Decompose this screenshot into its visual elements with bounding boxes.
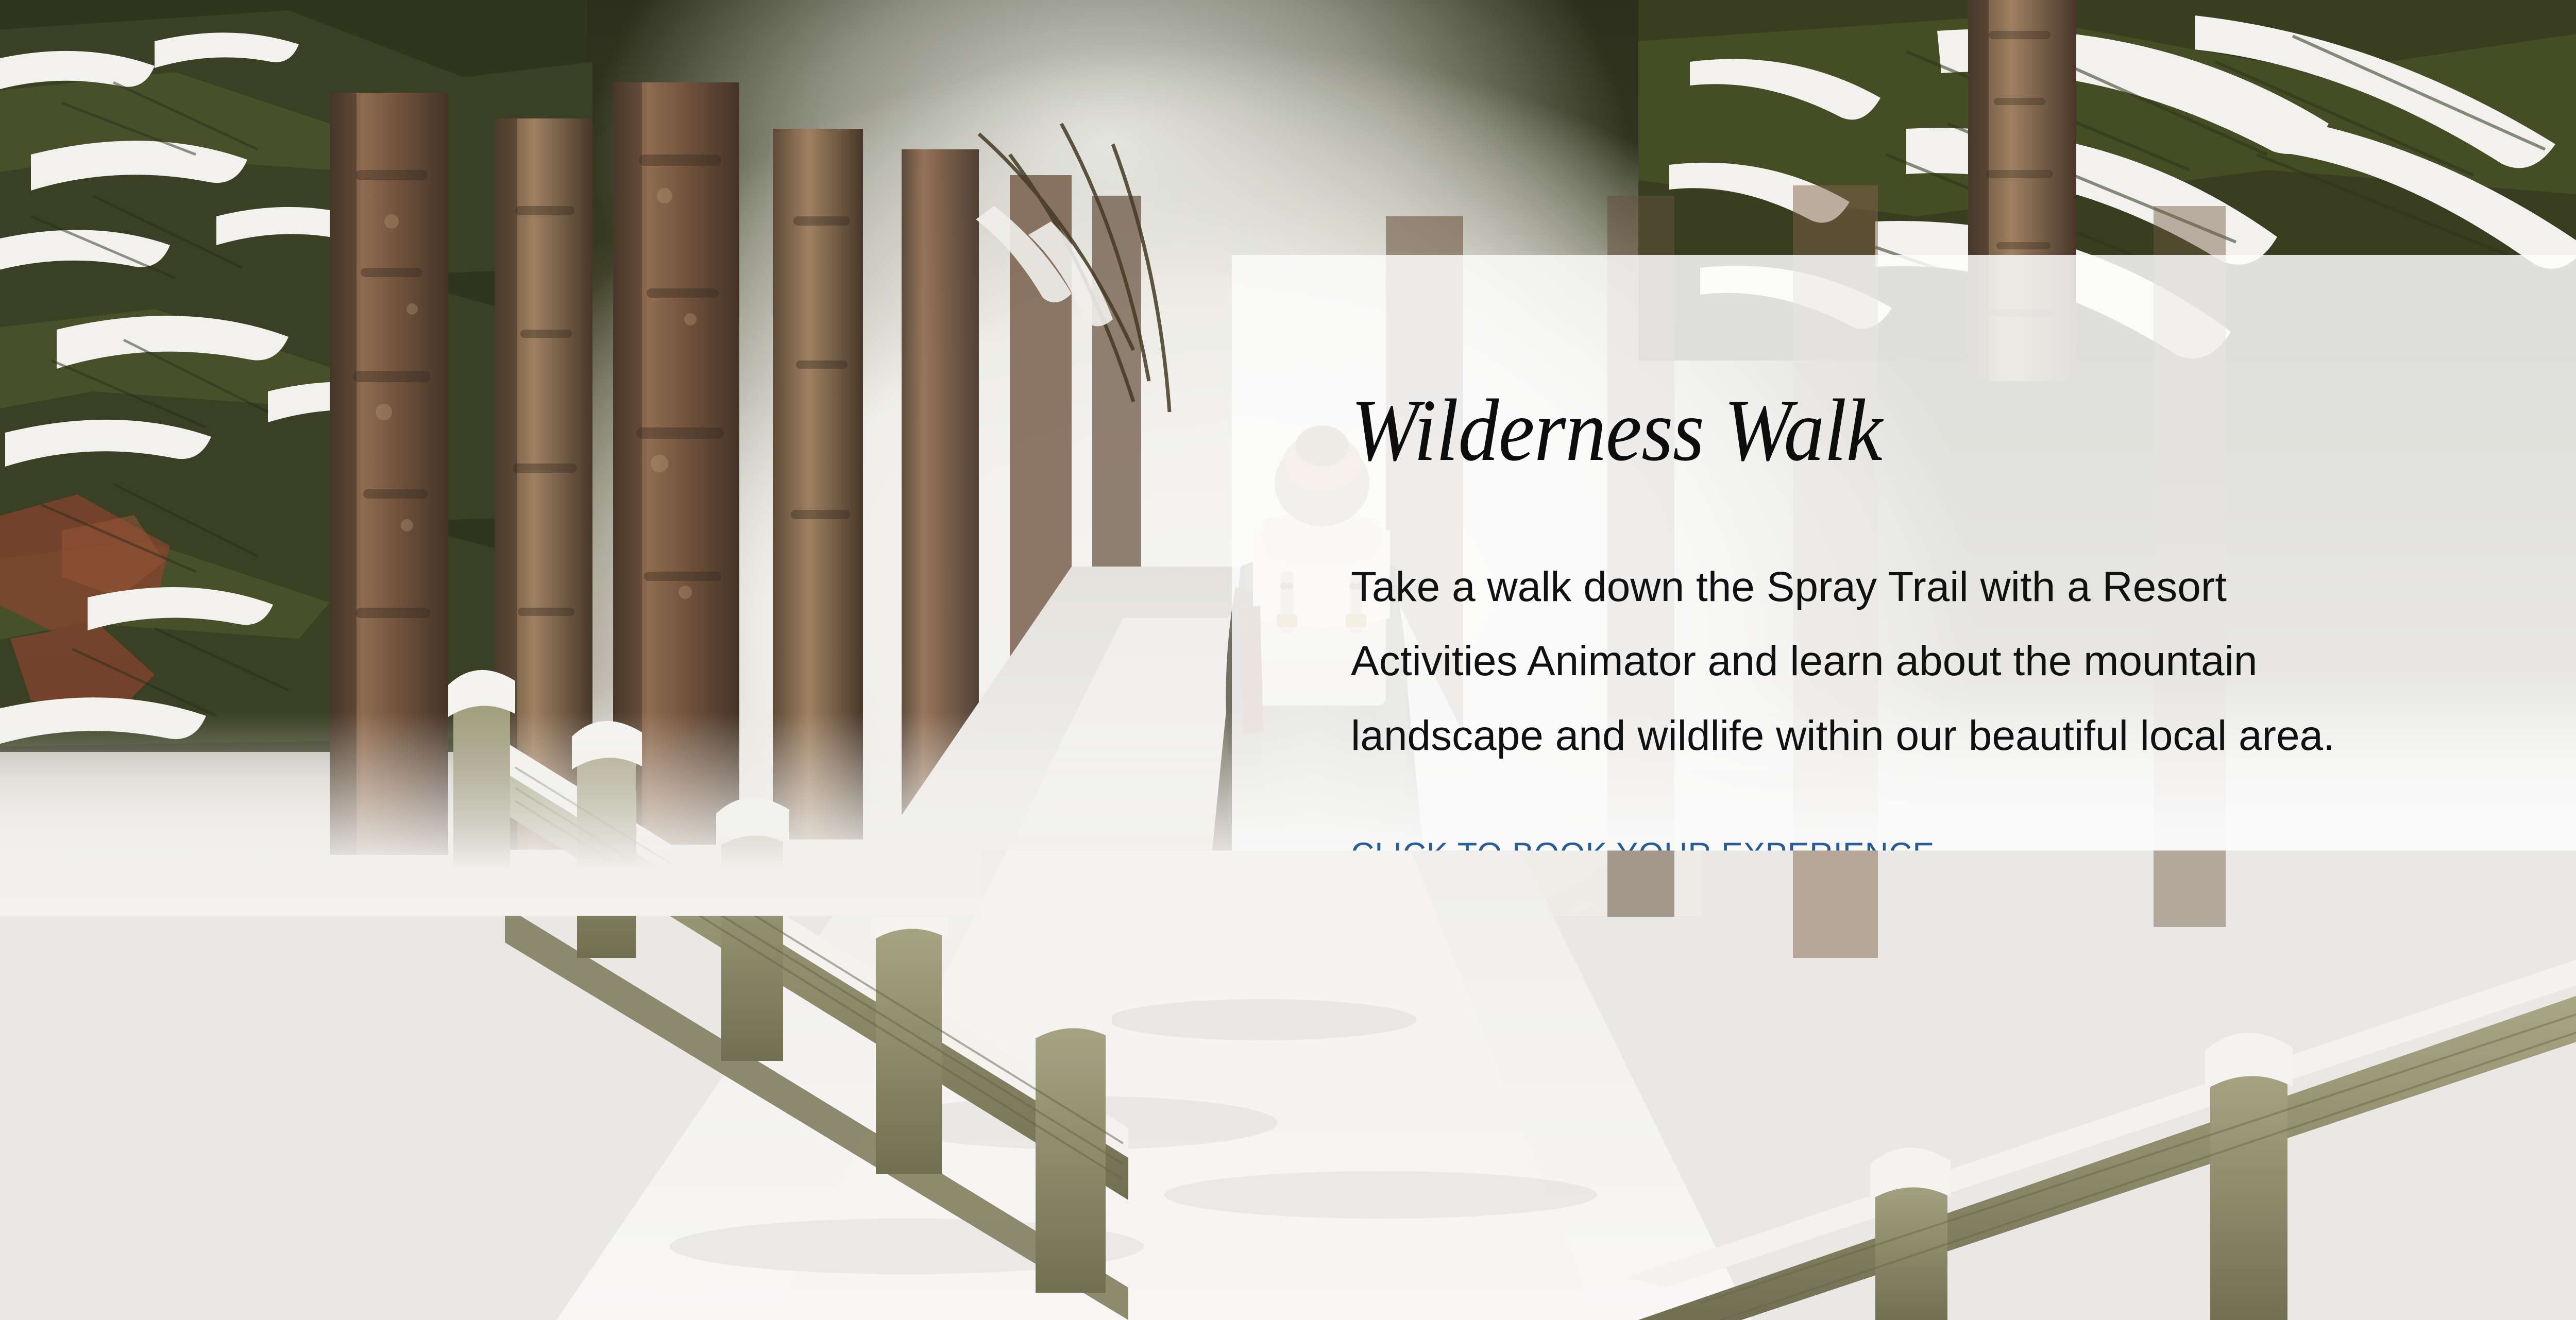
content-overlay-card: Wilderness Walk Take a walk down the Spr… [1232, 255, 2576, 1102]
card-content: Wilderness Walk Take a walk down the Spr… [1351, 386, 2453, 873]
page-title: Wilderness Walk [1351, 386, 2365, 475]
description-text: Take a walk down the Spray Trail with a … [1351, 550, 2376, 773]
book-experience-link[interactable]: CLICK TO BOOK YOUR EXPERIENCE [1351, 836, 1935, 873]
hero-banner: Wilderness Walk Take a walk down the Spr… [0, 0, 2576, 1320]
